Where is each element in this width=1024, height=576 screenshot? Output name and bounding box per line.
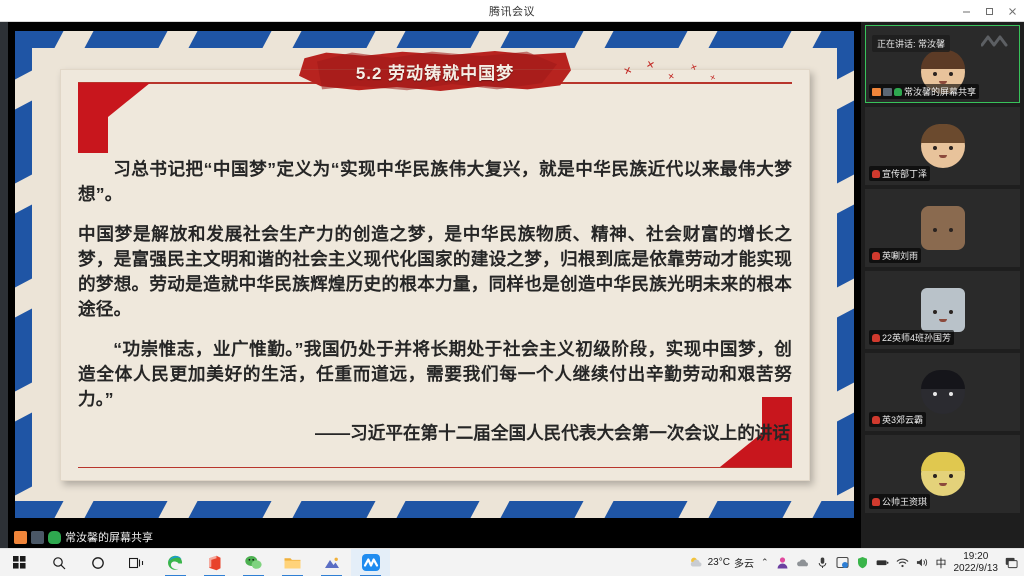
participant-nametag: 公帅王资琪	[869, 494, 930, 509]
participant-name: 宣传部丁泽	[882, 167, 927, 180]
divider-top	[78, 82, 792, 84]
participant-nametag: 常汝馨的屏幕共享	[869, 84, 979, 99]
close-button[interactable]	[1001, 0, 1024, 22]
ime-indicator[interactable]: 中	[936, 555, 947, 571]
participant-nametag: 英唰刘雨	[869, 248, 921, 263]
flying-birds-icon: ✕ ✕ ✕ ✕ ✕	[620, 61, 740, 107]
temperature-label: 23°C	[708, 557, 730, 568]
avatar	[921, 452, 965, 496]
avatar-eye-right	[949, 392, 953, 396]
cortana-button[interactable]	[78, 549, 117, 576]
participant-name: 常汝馨的屏幕共享	[904, 85, 976, 98]
weather-icon	[689, 556, 704, 569]
microphone-muted-icon	[872, 416, 880, 424]
screen-share-status-bar: 常汝馨的屏幕共享	[8, 526, 861, 548]
participant-icon	[14, 531, 27, 544]
clock[interactable]: 19:20 2022/9/13	[954, 551, 999, 575]
screen-share-icon	[31, 531, 44, 544]
volume-icon[interactable]	[916, 556, 929, 569]
start-button[interactable]	[0, 549, 39, 576]
participant-icon	[872, 88, 881, 96]
screen-share-label: 常汝馨的屏幕共享	[65, 529, 153, 545]
microphone-muted-icon	[872, 334, 880, 342]
airmail-stripes-right	[837, 31, 854, 518]
presentation-slide: 5.2 劳动铸就中国梦 ✕ ✕ ✕ ✕ ✕ 习总书记把“中国梦”定义为“实现中华…	[15, 31, 854, 518]
minimize-button[interactable]	[955, 0, 978, 22]
onedrive-icon[interactable]	[796, 556, 809, 569]
airmail-stripes-bottom	[15, 501, 854, 518]
edge-app[interactable]	[156, 549, 195, 576]
speaking-indicator: 正在讲话: 常汝馨	[872, 35, 950, 52]
show-hidden-icons-button[interactable]: ⌃	[761, 557, 769, 568]
window-title-bar: 腾讯会议	[0, 0, 1024, 22]
slide-paragraph-3: “功崇惟志，业广惟勤。”我国仍处于并将长期处于社会主义初级阶段，实现中国梦，创造…	[78, 337, 792, 412]
participant-name: 公帅王资琪	[882, 495, 927, 508]
slide-title-banner: 5.2 劳动铸就中国梦	[299, 47, 571, 97]
clock-time: 19:20	[954, 551, 999, 563]
participant-name: 22英师4班孙国芳	[882, 331, 951, 344]
microphone-icon	[894, 88, 902, 96]
shared-screen-stage[interactable]: 5.2 劳动铸就中国梦 ✕ ✕ ✕ ✕ ✕ 习总书记把“中国梦”定义为“实现中华…	[8, 22, 861, 526]
microphone-muted-icon	[872, 170, 880, 178]
microphone-muted-icon	[872, 252, 880, 260]
window-title: 腾讯会议	[489, 3, 535, 19]
clock-date: 2022/9/13	[954, 563, 999, 575]
weather-label: 多云	[734, 555, 754, 570]
microphone-tray-icon[interactable]	[816, 556, 829, 569]
participant-tile-1[interactable]: 宣传部丁泽	[865, 107, 1020, 185]
security-shield-icon[interactable]	[856, 556, 869, 569]
divider-bottom	[78, 467, 792, 469]
airmail-stripes-left	[15, 31, 32, 518]
avatar	[921, 370, 965, 414]
slide-title: 5.2 劳动铸就中国梦	[299, 47, 571, 95]
participant-tile-4[interactable]: 英3郊云霸	[865, 353, 1020, 431]
avatar-eye-right	[949, 310, 953, 314]
task-view-button[interactable]	[117, 549, 156, 576]
participant-nametag: 22英师4班孙国芳	[869, 330, 954, 345]
avatar-hair	[921, 370, 965, 389]
participant-tile-3[interactable]: 22英师4班孙国芳	[865, 271, 1020, 349]
slide-attribution: ——习近平在第十二届全国人民代表大会第一次会议上的讲话	[78, 421, 792, 446]
microphone-muted-icon	[872, 498, 880, 506]
windows-taskbar[interactable]: 23°C 多云 ⌃	[0, 548, 1024, 576]
participant-tile-2[interactable]: 英唰刘雨	[865, 189, 1020, 267]
office-app[interactable]	[195, 549, 234, 576]
corner-bracket-top-left	[78, 83, 150, 153]
search-button[interactable]	[39, 549, 78, 576]
user-tray-icon[interactable]	[776, 556, 789, 569]
wifi-icon[interactable]	[896, 556, 909, 569]
avatar-mouth	[939, 155, 947, 158]
maximize-button[interactable]	[978, 0, 1001, 22]
avatar-hair	[921, 124, 965, 143]
screenshot-tool-icon[interactable]	[836, 556, 849, 569]
tencent-meeting-app[interactable]	[351, 549, 390, 576]
participant-nametag: 宣传部丁泽	[869, 166, 930, 181]
avatar-eye-left	[933, 146, 937, 150]
slide-paper-card: 5.2 劳动铸就中国梦 ✕ ✕ ✕ ✕ ✕ 习总书记把“中国梦”定义为“实现中华…	[60, 69, 810, 481]
avatar-eye-left	[933, 310, 937, 314]
avatar-mouth	[939, 483, 947, 486]
participant-tile-5[interactable]: 公帅王资琪	[865, 435, 1020, 513]
screen-share-icon	[883, 88, 892, 96]
participant-sidebar[interactable]: 正在讲话: 常汝馨 常汝馨的屏幕共享	[861, 22, 1024, 548]
weather-widget[interactable]: 23°C 多云	[689, 555, 754, 570]
airmail-stripes-top	[15, 31, 854, 48]
participant-name: 英唰刘雨	[882, 249, 918, 262]
file-explorer-app[interactable]	[273, 549, 312, 576]
avatar-hair	[921, 50, 965, 69]
participant-name: 英3郊云霸	[882, 413, 923, 426]
slide-paragraph-2: 中国梦是解放和发展社会生产力的创造之梦，是中华民族物质、精神、社会财富的增长之梦…	[78, 222, 792, 322]
participant-nametag: 英3郊云霸	[869, 412, 926, 427]
system-tray: 23°C 多云 ⌃	[689, 551, 1024, 575]
avatar-eye-left	[933, 228, 937, 232]
slide-paragraph-1: 习总书记把“中国梦”定义为“实现中华民族伟大复兴，就是中华民族近代以来最伟大梦想…	[78, 157, 792, 207]
avatar-eye-right	[949, 72, 953, 76]
taskbar-apps	[0, 549, 390, 576]
slide-body-text: 习总书记把“中国梦”定义为“实现中华民族伟大复兴，就是中华民族近代以来最伟大梦想…	[78, 157, 792, 446]
meeting-window-body: 5.2 劳动铸就中国梦 ✕ ✕ ✕ ✕ ✕ 习总书记把“中国梦”定义为“实现中华…	[0, 22, 1024, 548]
avatar-mouth	[939, 319, 947, 322]
window-controls	[955, 0, 1024, 22]
avatar-eye-right	[949, 228, 953, 232]
participant-tile-0[interactable]: 正在讲话: 常汝馨 常汝馨的屏幕共享	[865, 25, 1020, 103]
avatar-eye-left	[933, 392, 937, 396]
left-rail	[0, 22, 8, 548]
avatar-eye-left	[933, 474, 937, 478]
notification-center-icon[interactable]	[1005, 556, 1018, 569]
avatar-eye-right	[949, 474, 953, 478]
photos-app[interactable]	[312, 549, 351, 576]
avatar	[921, 206, 965, 250]
avatar-hair	[921, 452, 965, 471]
corner-bracket-bottom-right	[720, 397, 792, 467]
avatar	[921, 288, 965, 332]
avatar	[921, 124, 965, 168]
avatar-eye-right	[949, 146, 953, 150]
avatar-eye-left	[933, 72, 937, 76]
microphone-icon	[48, 531, 61, 544]
wechat-app[interactable]	[234, 549, 273, 576]
battery-icon[interactable]	[876, 556, 889, 569]
